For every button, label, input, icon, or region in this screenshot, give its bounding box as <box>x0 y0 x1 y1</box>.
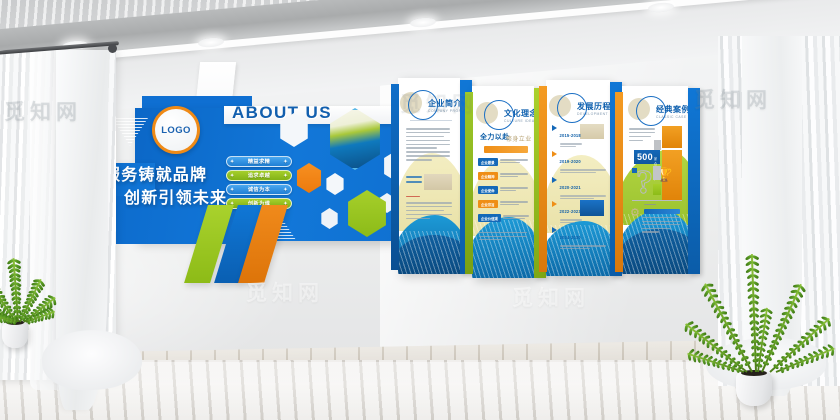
timeline-text <box>560 143 582 147</box>
logo-label: LOGO <box>161 125 191 136</box>
plant-pot <box>2 322 28 348</box>
plant-leaf <box>718 305 724 309</box>
plant-leaf <box>778 335 783 341</box>
timeline-years: 2020-2021 <box>560 185 581 190</box>
timeline-years: 2019-2020 <box>560 159 581 164</box>
panel-company-profile: 企业简介 COMPANY PROFILE <box>398 78 460 274</box>
plant-leaf <box>729 327 734 331</box>
image-placeholder <box>424 174 452 190</box>
value-pill-list: ✦ 精益求精 ✦ ✦ 追求卓越 ✦ ✦ 诚信为本 ✦ ✦ 创新为魂 ✦ <box>226 156 292 212</box>
plant-leaf <box>689 329 693 336</box>
section-label: ABOUT US <box>232 103 412 123</box>
plant-leaf <box>758 363 762 367</box>
plant-leaf <box>53 299 57 306</box>
panel-header: 经典案例 CLASSIC CASE <box>636 96 688 126</box>
divider <box>632 200 682 201</box>
plant-leaf <box>810 335 814 341</box>
note-tag <box>644 209 680 214</box>
intro-text-block <box>629 128 655 144</box>
image-placeholder-grey <box>654 140 661 150</box>
mesh-texture <box>398 231 460 274</box>
row-text <box>500 201 528 207</box>
timeline-item: 2015-2018 <box>552 124 582 147</box>
play-arrow-icon <box>552 227 557 233</box>
panel-edge-accent <box>391 84 399 270</box>
timeline-text <box>560 219 582 223</box>
plant-leaf <box>722 350 727 354</box>
note-text-block <box>642 217 680 235</box>
panel-edge-accent <box>615 92 623 272</box>
plant-leaf <box>801 343 804 348</box>
timeline-item: 2019-2020 <box>552 150 606 173</box>
image-placeholder-orange <box>662 126 682 148</box>
star-icon: ✦ <box>230 173 235 179</box>
plant-leaf <box>780 329 785 335</box>
mesh-texture <box>472 220 534 278</box>
plant-leaf <box>784 359 787 363</box>
panel-title: 发展历程 <box>577 101 610 112</box>
image-placeholder-blue <box>580 200 604 216</box>
timeline-text <box>560 245 606 249</box>
timeline-item: 2020-2021 <box>552 176 606 199</box>
play-arrow-icon <box>552 177 557 183</box>
plant-leaf <box>818 328 822 334</box>
row-text <box>500 159 528 165</box>
timeline-item: 2024-2030 <box>552 226 606 249</box>
plant-leaf <box>698 336 701 342</box>
plant-leaf <box>744 355 748 359</box>
plant-leaf <box>727 354 732 358</box>
stat-box: 500 家合作客户 <box>634 150 660 164</box>
plant-leaf <box>27 321 31 325</box>
play-arrow-icon <box>552 201 557 207</box>
plant-leaf <box>797 347 800 352</box>
plant-leaf <box>768 357 772 362</box>
row-tag: 企业宗旨 <box>478 200 498 208</box>
image-placeholder <box>580 124 604 139</box>
panel-culture-philosophy: 文化理念 CULTURE IDEA 全力以赴 修身立业 企业愿景 企业精神 企业… <box>472 86 534 278</box>
plant-leaf <box>712 346 715 351</box>
play-arrow-icon <box>552 151 557 157</box>
plant-leaf <box>716 350 719 355</box>
panel-edge <box>688 88 700 274</box>
plant-leaf <box>806 339 809 344</box>
question-mark-icon: ? <box>636 166 653 200</box>
star-icon: ✦ <box>283 159 288 165</box>
plant-leaf <box>736 361 740 364</box>
plant-leaf <box>706 284 713 287</box>
plant-leaf <box>814 331 818 337</box>
body-text-block <box>406 128 450 163</box>
panel-banner <box>484 146 528 153</box>
panel-header: 发展历程 DEVELOPMENT <box>557 93 610 123</box>
divider <box>410 120 452 121</box>
meta-lines <box>406 196 436 199</box>
plant-leaf <box>731 357 735 361</box>
panel-header: 文化理念 CULTURE IDEA <box>484 100 534 130</box>
panel-title: 经典案例 <box>656 104 688 115</box>
panel-headline-sub: 修身立业 <box>506 134 532 143</box>
timeline-years: 2024-2030 <box>560 235 581 240</box>
list-item: 企业精神 <box>478 172 528 180</box>
timeline-years: 2015-2018 <box>560 133 581 138</box>
panel-title: 企业简介 <box>428 98 460 109</box>
pill-label: 精益求精 <box>248 158 270 165</box>
star-icon: ✦ <box>283 173 288 179</box>
plant-leaf <box>793 351 796 355</box>
plant-leaf <box>765 362 769 366</box>
list-item: ✦ 追求卓越 ✦ <box>226 170 292 181</box>
panel-edge-accent <box>465 92 473 274</box>
plant-leaf <box>684 325 688 332</box>
panel-header: 企业简介 COMPANY PROFILE <box>408 90 460 120</box>
panel-classic-cases: 经典案例 CLASSIC CASE 500 家合作客户 ? 🏆 <box>622 86 688 274</box>
pill-label: 诚信为本 <box>248 186 270 193</box>
plant-leaf <box>747 361 751 365</box>
plant-leaf <box>715 300 722 304</box>
row-tag: 企业使命 <box>478 186 498 194</box>
note-label <box>644 204 656 208</box>
row-text <box>500 187 528 193</box>
caption-label <box>406 176 422 185</box>
panel-title: 文化理念 <box>504 108 534 119</box>
play-arrow-icon <box>552 125 557 131</box>
timeline-text <box>560 195 606 199</box>
plant-leaf <box>788 355 791 359</box>
timeline-text <box>560 169 606 173</box>
list-item: ✦ 诚信为本 ✦ <box>226 184 292 195</box>
plant-leaf <box>693 332 697 338</box>
plant-leaf <box>827 320 831 327</box>
list-item: 企业价值观 <box>478 214 529 222</box>
panel-edge-accent <box>539 86 547 272</box>
star-icon: ✦ <box>230 159 235 165</box>
curtain-rod-finial <box>108 44 117 53</box>
row-tag: 企业精神 <box>478 172 498 180</box>
footer-text-block <box>479 232 527 243</box>
image-placeholder-grey-2 <box>653 166 661 180</box>
footer-text-block <box>406 202 452 221</box>
plant-leaf <box>823 324 827 331</box>
plant-leaf <box>759 358 763 362</box>
list-item: ✦ 精益求精 ✦ <box>226 156 292 167</box>
gears-icon: ⚙ <box>630 208 640 219</box>
row-tag: 企业价值观 <box>478 214 501 222</box>
plant-leaf <box>0 291 2 294</box>
plant-leaf <box>781 369 785 373</box>
plant-pot <box>736 372 772 406</box>
list-item: 企业宗旨 <box>478 200 528 208</box>
swatch-green <box>653 184 661 195</box>
scene-root: ABOUT US LOGO 服务铸就品牌 创新引领未来 ✦ 精益求精 ✦ ✦ 追… <box>0 0 840 420</box>
slogan-line-1: 服务铸就品牌 <box>104 167 207 184</box>
row-text <box>500 173 528 179</box>
timeline-item: 2022-2023 <box>552 200 582 223</box>
list-item: 企业使命 <box>478 186 528 194</box>
list-item: 企业愿景 <box>478 158 528 166</box>
timeline-years: 2022-2023 <box>560 209 581 214</box>
star-icon: ✦ <box>283 187 288 193</box>
row-text <box>503 215 529 221</box>
panel-development-history: 发展历程 DEVELOPMENT 2015-2018 2019-2020 202… <box>546 80 610 276</box>
star-icon: ✦ <box>230 187 235 193</box>
logo-badge: LOGO <box>152 106 200 154</box>
row-tag: 企业愿景 <box>478 158 498 166</box>
stat-number: 500 <box>637 152 653 162</box>
pill-label: 追求卓越 <box>248 172 270 179</box>
